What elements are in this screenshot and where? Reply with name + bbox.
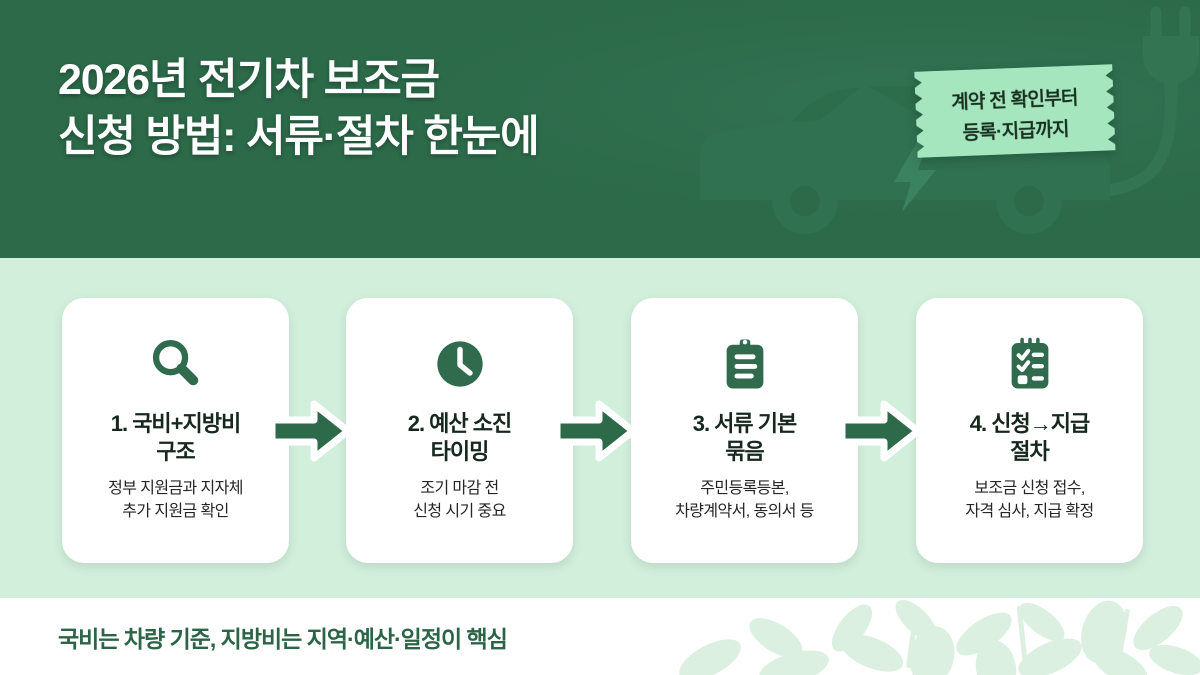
clipboard-icon [717, 326, 773, 402]
step-card-description: 조기 마감 전 신청 시기 중요 [413, 478, 505, 523]
footer-bar: 국비는 차량 기준, 지방비는 지역·예산·일정이 핵심 [0, 598, 1200, 675]
step-card-1[interactable]: 1. 국비+지방비 구조 정부 지원금과 지자체 추가 지원금 확인 [62, 298, 289, 563]
page-title: 2026년 전기차 보조금 신청 방법: 서류·절차 한눈에 [58, 52, 798, 166]
leaf-pattern-decoration [580, 598, 1200, 675]
step-card-4[interactable]: 4. 신청→지급 절차 보조금 신청 접수, 자격 심사, 지급 확정 [916, 298, 1143, 563]
arrow-right-icon [268, 398, 352, 464]
step-card-title: 3. 서류 기본 묶음 [693, 410, 797, 466]
arrow-right-icon [838, 398, 922, 464]
clock-icon [431, 326, 489, 402]
step-card-title: 1. 국비+지방비 구조 [111, 410, 241, 466]
arrow-right-icon [553, 398, 637, 464]
step-card-3[interactable]: 3. 서류 기본 묶음 주민등록등본, 차량계약서, 동의서 등 [631, 298, 858, 563]
infographic-poster: 2026년 전기차 보조금 신청 방법: 서류·절차 한눈에 계약 전 확인부터… [0, 0, 1200, 675]
badge-line-2: 등록·지급까지 [962, 114, 1069, 145]
step-card-description: 보조금 신청 접수, 자격 심사, 지급 확정 [965, 478, 1093, 523]
footer-caption: 국비는 차량 기준, 지방비는 지역·예산·일정이 핵심 [58, 620, 507, 654]
checklist-notepad-icon [1002, 326, 1058, 402]
step-card-description: 주민등록등본, 차량계약서, 동의서 등 [675, 478, 814, 523]
step-card-description: 정부 지원금과 지자체 추가 지원금 확인 [108, 478, 243, 523]
title-line-2: 신청 방법: 서류·절차 한눈에 [58, 109, 798, 166]
step-card-title: 2. 예산 소진 타이밍 [408, 410, 512, 466]
title-line-1: 2026년 전기차 보조금 [58, 52, 798, 109]
step-card-2[interactable]: 2. 예산 소진 타이밍 조기 마감 전 신청 시기 중요 [346, 298, 573, 563]
magnifier-icon [147, 326, 205, 402]
header-banner: 2026년 전기차 보조금 신청 방법: 서류·절차 한눈에 계약 전 확인부터… [0, 0, 1200, 258]
status-badge: 계약 전 확인부터 등록·지급까지 [906, 58, 1124, 170]
badge-line-1: 계약 전 확인부터 [951, 83, 1079, 115]
step-card-title: 4. 신청→지급 절차 [970, 410, 1089, 466]
